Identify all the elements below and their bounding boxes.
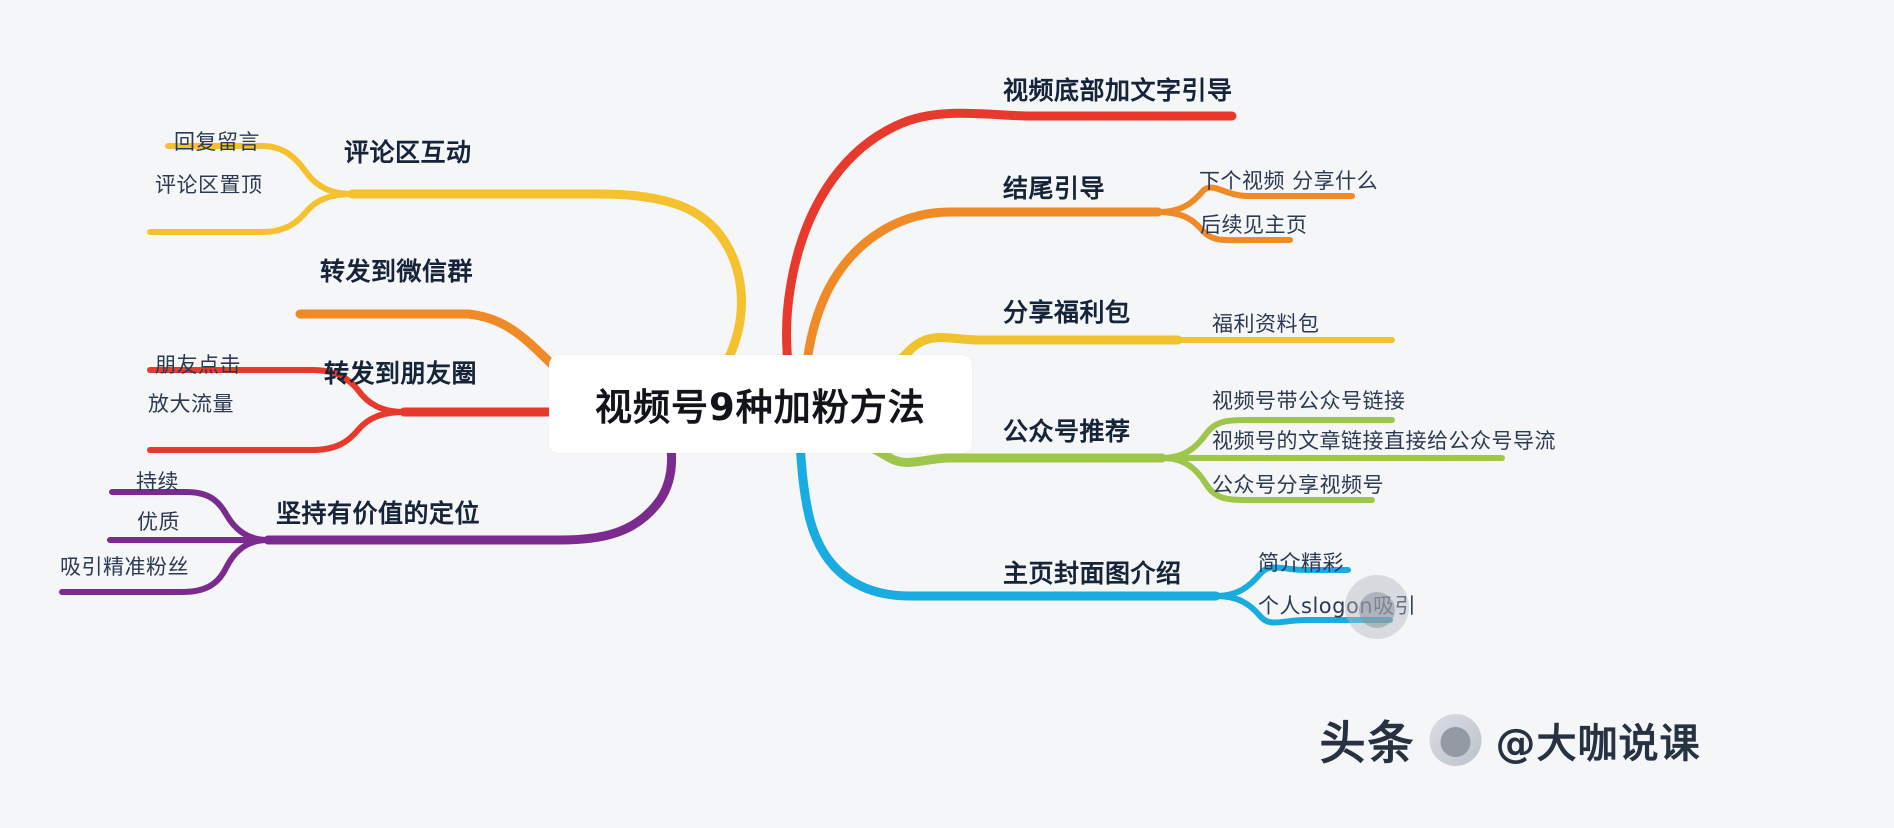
subnode-label: 视频号的文章链接直接给公众号导流	[1212, 429, 1556, 453]
subnode-label: 吸引精准粉丝	[60, 555, 189, 579]
subnode-intro-excellent[interactable]: 简介精彩	[1258, 547, 1344, 577]
branch-label: 结尾引导	[1003, 174, 1105, 203]
branch-label: 主页封面图介绍	[1003, 559, 1182, 588]
subnode-reply-message[interactable]: 回复留言	[174, 126, 260, 156]
branch-node-forward-wechat-group[interactable]: 转发到微信群	[320, 252, 473, 288]
subnode-welfare-material-pack[interactable]: 福利资料包	[1212, 308, 1320, 338]
watermark: 头条 @大咖说课	[1320, 707, 1701, 773]
branch-label: 坚持有价值的定位	[276, 499, 480, 528]
subnode-video-with-oa-link[interactable]: 视频号带公众号链接	[1212, 385, 1406, 415]
branch-node-homepage-cover[interactable]: 主页封面图介绍	[1003, 554, 1182, 590]
watermark-avatar-icon	[1430, 714, 1482, 766]
subnode-amplify-traffic[interactable]: 放大流量	[148, 388, 234, 418]
subnode-label: 放大流量	[148, 392, 234, 416]
watermark-handle-label: @大咖说课	[1496, 711, 1701, 769]
subnode-friend-click[interactable]: 朋友点击	[155, 349, 241, 379]
subnode-label: 视频号带公众号链接	[1212, 389, 1406, 413]
watermark-platform-label: 头条	[1320, 707, 1416, 773]
subnode-see-homepage-later[interactable]: 后续见主页	[1200, 209, 1308, 239]
subnode-label: 朋友点击	[155, 353, 241, 377]
subnode-label: 公众号分享视频号	[1212, 473, 1384, 497]
branch-node-official-account-rec[interactable]: 公众号推荐	[1003, 412, 1131, 448]
subnode-attract-precise-fans[interactable]: 吸引精准粉丝	[60, 551, 189, 581]
root-node-label: 视频号9种加粉方法	[595, 386, 926, 429]
subnode-label: 回复留言	[174, 130, 260, 154]
branch-node-comment-interaction[interactable]: 评论区互动	[344, 133, 472, 169]
subnode-comment-pin[interactable]: 评论区置顶	[155, 169, 263, 199]
subnode-article-link-to-oa[interactable]: 视频号的文章链接直接给公众号导流	[1212, 425, 1556, 455]
subnode-label: 福利资料包	[1212, 312, 1320, 336]
subnode-label: 优质	[137, 510, 180, 534]
branch-label: 转发到微信群	[320, 257, 473, 286]
root-node[interactable]: 视频号9种加粉方法	[549, 355, 972, 453]
subnode-quality[interactable]: 优质	[137, 506, 180, 536]
subnode-label: 持续	[136, 470, 179, 494]
branch-label: 视频底部加文字引导	[1003, 76, 1233, 105]
subnode-continuous[interactable]: 持续	[136, 466, 179, 496]
subbranch-line-comment-pin	[150, 194, 352, 232]
branch-label: 公众号推荐	[1003, 417, 1131, 446]
subnode-label: 评论区置顶	[155, 173, 263, 197]
branch-node-valuable-positioning[interactable]: 坚持有价值的定位	[276, 494, 480, 530]
branch-node-forward-moments[interactable]: 转发到朋友圈	[324, 354, 477, 390]
branch-label: 评论区互动	[344, 138, 472, 167]
subnode-label: 后续见主页	[1200, 213, 1308, 237]
branch-label: 分享福利包	[1003, 298, 1131, 327]
watermark-ghost-avatar	[1345, 575, 1409, 639]
subnode-oa-share-video-account[interactable]: 公众号分享视频号	[1212, 469, 1384, 499]
subnode-label: 简介精彩	[1258, 551, 1344, 575]
subbranch-line-continuous	[112, 492, 268, 540]
branch-node-share-welfare-pack[interactable]: 分享福利包	[1003, 293, 1131, 329]
branch-node-bottom-text-guide[interactable]: 视频底部加文字引导	[1003, 71, 1233, 107]
branch-node-ending-guide[interactable]: 结尾引导	[1003, 169, 1105, 205]
branch-label: 转发到朋友圈	[324, 359, 477, 388]
subnode-label: 下个视频 分享什么	[1199, 169, 1378, 193]
subnode-next-video-share-what[interactable]: 下个视频 分享什么	[1199, 165, 1378, 195]
